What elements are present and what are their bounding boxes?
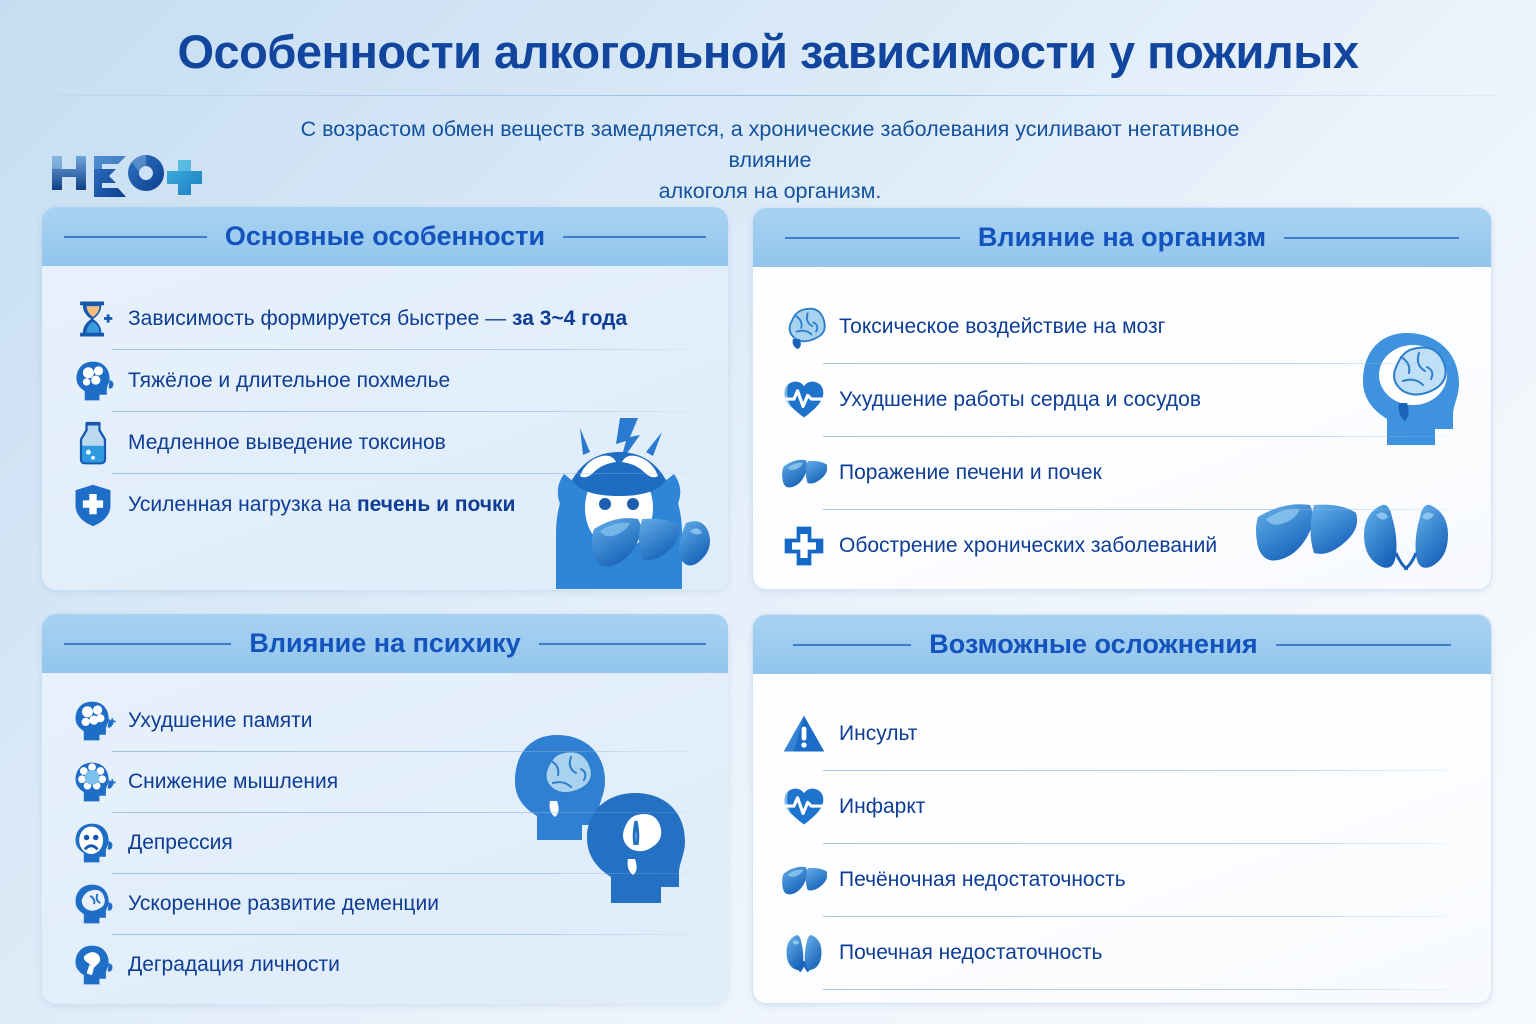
card-header: Влияние на психику <box>42 614 728 673</box>
list-item-label: Снижение мышления <box>128 770 338 793</box>
page-title: Особенности алкогольной зависимости у по… <box>0 24 1536 79</box>
medical-cross-icon <box>779 521 829 571</box>
head-sad-icon <box>68 818 118 868</box>
list-item[interactable]: Ухудшение памяти <box>42 691 728 751</box>
heart-pulse-icon <box>779 782 829 832</box>
header-rule-left <box>793 644 911 646</box>
card-title: Основные особенности <box>225 221 545 252</box>
list-item-label: Токсическое воздействие на мозг <box>839 315 1165 338</box>
list-item[interactable]: Поражение печени и почек <box>753 437 1491 509</box>
impact-rows: Токсическое воздействие на мозг Ухудшени… <box>753 281 1491 582</box>
list-item-label: Деградация личности <box>128 953 340 976</box>
card-main-features: Основные особенности <box>42 207 728 590</box>
head-dementia-icon <box>68 879 118 929</box>
flask-icon <box>68 418 118 468</box>
card-content: Инсульт Инфаркт <box>753 674 1491 1003</box>
list-item-label: Инфаркт <box>839 795 925 818</box>
complication-rows: Инсульт Инфаркт <box>753 688 1491 1004</box>
card-content: Ухудшение памяти <box>42 673 728 1004</box>
list-item-label: Печёночная недостаточность <box>839 868 1126 891</box>
subtitle-line-1: С возрастом обмен веществ замедляется, а… <box>300 114 1240 176</box>
list-item-label: Депрессия <box>128 831 233 854</box>
header-rule-left <box>64 236 207 238</box>
list-item[interactable]: Усиленная нагрузка на печень и почки <box>42 474 728 535</box>
liver-icon <box>779 855 829 905</box>
card-content: Токсическое воздействие на мозг Ухудшени… <box>753 267 1491 589</box>
list-item[interactable]: Обострение хронических заболеваний <box>753 510 1491 582</box>
list-item-label: Обострение хронических заболеваний <box>839 534 1217 557</box>
title-divider <box>40 95 1496 96</box>
feature-rows: Зависимость формируется быстрее — за 3~4… <box>42 280 728 535</box>
list-item[interactable]: Ухудшение качества жизни <box>753 990 1491 1004</box>
list-item[interactable]: Тяжёлое и длительное похмелье <box>42 350 728 411</box>
neo-plus-logo <box>48 148 208 198</box>
list-item[interactable]: Зависимость формируется быстрее — за 3~4… <box>42 288 728 349</box>
list-item[interactable]: Ухудшение работы сердца и сосудов <box>753 364 1491 436</box>
card-title: Возможные осложнения <box>929 629 1257 660</box>
list-item[interactable]: Печёночная недостаточность <box>753 844 1491 916</box>
list-item[interactable]: Инсульт <box>753 698 1491 770</box>
card-content: Зависимость формируется быстрее — за 3~4… <box>42 266 728 590</box>
hourglass-icon <box>68 294 118 344</box>
brain-icon <box>779 302 829 352</box>
list-item[interactable]: Токсическое воздействие на мозг <box>753 291 1491 363</box>
list-item-label: Поражение печени и почек <box>839 461 1102 484</box>
warning-triangle-icon <box>779 709 829 759</box>
head-memory-icon <box>68 696 118 746</box>
list-item[interactable]: Медленное выведение токсинов <box>42 412 728 473</box>
card-header: Основные особенности <box>42 207 728 266</box>
header-rule-right <box>563 236 706 238</box>
card-title: Влияние на организм <box>978 222 1266 253</box>
shield-cross-icon <box>68 480 118 530</box>
list-item-label: Усиленная нагрузка на печень и почки <box>128 493 515 516</box>
liver-icon <box>779 448 829 498</box>
subtitle-line-2: алкоголя на организм. <box>300 176 1240 207</box>
head-degradation-icon <box>68 940 118 990</box>
list-item-label: Ухудшение памяти <box>128 709 313 732</box>
heart-pulse-icon <box>779 375 829 425</box>
psyche-rows: Ухудшение памяти <box>42 687 728 995</box>
list-item-label: Тяжёлое и длительное похмелье <box>128 369 450 392</box>
header-rule-left <box>64 643 231 645</box>
list-item-label: Зависимость формируется быстрее — за 3~4… <box>128 307 627 330</box>
list-item-label: Ускоренное развитие деменции <box>128 892 439 915</box>
list-item-label: Ухудшение работы сердца и сосудов <box>839 388 1201 411</box>
infographic-page: Особенности алкогольной зависимости у по… <box>0 0 1536 1024</box>
down-arrow-icon <box>779 1001 829 1004</box>
card-header: Влияние на организм <box>753 208 1491 267</box>
list-item[interactable]: Деградация личности <box>42 935 728 995</box>
card-title: Влияние на психику <box>249 628 520 659</box>
head-hangover-icon <box>68 356 118 406</box>
list-item[interactable]: Депрессия <box>42 813 728 873</box>
list-item-label: Почечная недостаточность <box>839 941 1102 964</box>
header-rule-right <box>1276 644 1451 646</box>
card-header: Возможные осложнения <box>753 615 1491 674</box>
head-thinking-icon <box>68 757 118 807</box>
list-item[interactable]: Инфаркт <box>753 771 1491 843</box>
card-body-impact: Влияние на организм <box>752 207 1492 590</box>
card-complications: Возможные осложнения Инсульт <box>752 614 1492 1004</box>
kidneys-icon <box>779 928 829 978</box>
header-rule-right <box>1284 237 1459 239</box>
list-item-label: Инсульт <box>839 722 917 745</box>
list-item[interactable]: Снижение мышления <box>42 752 728 812</box>
card-psyche-impact: Влияние на психику <box>42 614 728 1004</box>
header: Особенности алкогольной зависимости у по… <box>0 0 1536 200</box>
header-rule-left <box>785 237 960 239</box>
page-subtitle: С возрастом обмен веществ замедляется, а… <box>300 114 1240 208</box>
header-rule-right <box>539 643 706 645</box>
list-item[interactable]: Почечная недостаточность <box>753 917 1491 989</box>
list-item-label: Медленное выведение токсинов <box>128 431 446 454</box>
list-item[interactable]: Ускоренное развитие деменции <box>42 874 728 934</box>
